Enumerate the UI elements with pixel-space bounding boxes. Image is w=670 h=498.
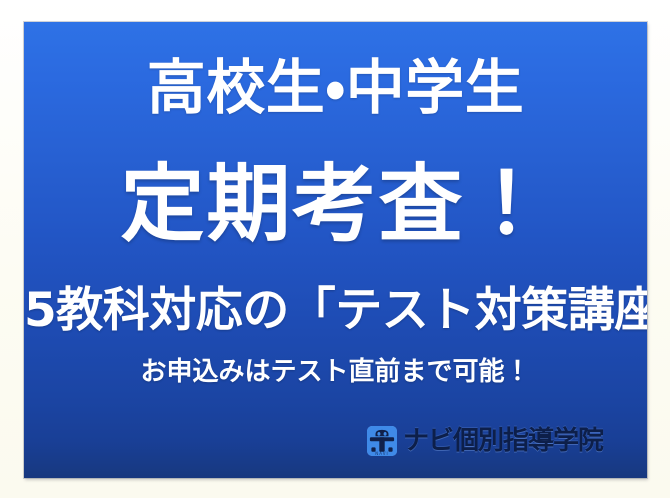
promo-banner-panel: 高校生・中学生 定期考査！ 5教科対応の「テスト対策講座」 お申込みはテスト直前…	[24, 22, 647, 478]
navi-mascot-icon: NAVI	[367, 426, 397, 456]
brand-wordmark: ナビ個別指導学院	[403, 428, 603, 454]
application-note-line: お申込みはテスト直前まで可能！	[24, 359, 647, 385]
main-headline: 定期考査！	[24, 162, 647, 246]
audience-line: 高校生・中学生	[24, 58, 647, 117]
poster-root: 高校生・中学生 定期考査！ 5教科対応の「テスト対策講座」 お申込みはテスト直前…	[0, 0, 670, 498]
promo-banner-content: 高校生・中学生 定期考査！ 5教科対応の「テスト対策講座」 お申込みはテスト直前…	[24, 22, 647, 478]
brand-logo: NAVI ナビ個別指導学院	[367, 426, 603, 456]
course-line: 5教科対応の「テスト対策講座」	[24, 287, 647, 334]
badge-caption: NAVI	[367, 452, 397, 456]
